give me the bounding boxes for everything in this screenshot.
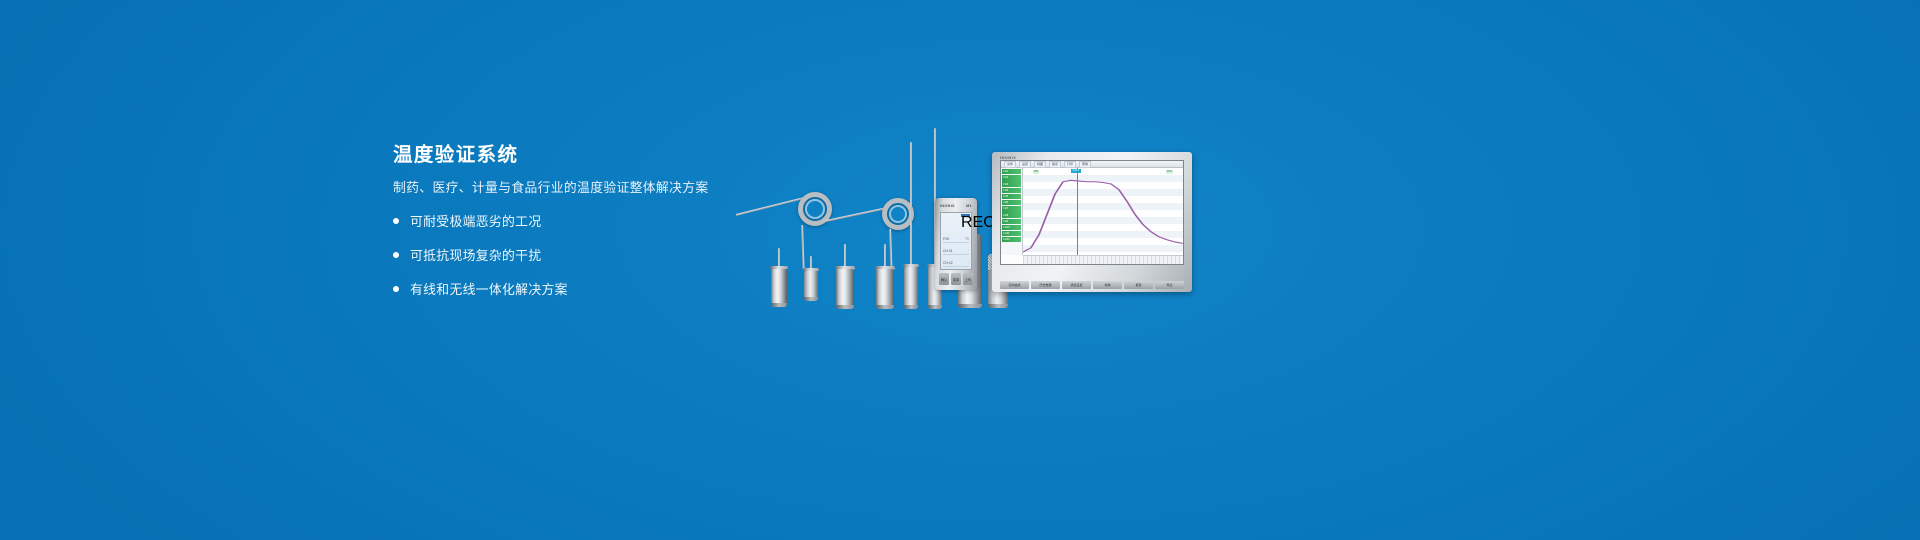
- chart-x-axis: [1023, 255, 1183, 264]
- toolbar-item-file[interactable]: 文件: [1004, 161, 1016, 168]
- logger-body: [804, 271, 818, 301]
- channel-row[interactable]: CH2: [1002, 175, 1021, 180]
- toolbar-item-settings[interactable]: 设置: [1019, 161, 1031, 168]
- reader-key-menu[interactable]: 菜单: [951, 273, 961, 285]
- coil-probe-wire: [826, 207, 889, 222]
- toolbar-item-help[interactable]: 帮助: [1079, 161, 1091, 168]
- chart-annotation-min: MIN: [1033, 170, 1040, 174]
- tab-channels[interactable]: 通道设置: [1062, 281, 1091, 289]
- toolbar-item-view[interactable]: 视图: [1034, 161, 1046, 168]
- reader-brand-row: INONIX M1: [935, 204, 977, 208]
- reader-row-value: °C: [965, 237, 969, 241]
- channel-row[interactable]: CH8: [1002, 212, 1021, 217]
- probe-stem: [844, 244, 846, 268]
- logger-body: [904, 267, 918, 309]
- temperature-trend-chart: 121.3 MIN MAX: [1023, 168, 1183, 255]
- reader-list-item: CH.01 ·: [943, 247, 969, 255]
- monitor-screen: 文件 设置 视图 报表 打印 帮助 CH1 CH2 CH3 CH4 CH5 CH…: [1000, 160, 1184, 265]
- reader-list-item: P28 °C: [943, 235, 969, 243]
- reader-status-badge: REC: [961, 214, 970, 217]
- toolbar-item-print[interactable]: 打印: [1064, 161, 1076, 168]
- product-image-group: TEMP LOGGER INONIX M1 REC P28 °C CH.01 ·: [730, 120, 1210, 320]
- probe-stem: [778, 248, 780, 268]
- tab-alarm[interactable]: 报警: [1124, 281, 1153, 289]
- panel-monitor-device[interactable]: INONIX 文件 设置 视图 报表 打印 帮助 CH1 CH2 CH3 CH4…: [992, 152, 1192, 292]
- toolbar-item-report[interactable]: 报表: [1049, 161, 1061, 168]
- monitor-brand-label: INONIX: [1000, 155, 1016, 160]
- reader-row-label: CH.02: [943, 261, 953, 265]
- tab-realtime[interactable]: 实时曲线: [1000, 281, 1029, 289]
- coil-ring-highlight: [805, 199, 825, 219]
- hero-banner: 温度验证系统 制药、医疗、计量与食品行业的温度验证整体解决方案 可耐受极端恶劣的…: [0, 0, 1920, 540]
- reader-row-label: P28: [943, 237, 949, 241]
- channel-row[interactable]: CH3: [1002, 181, 1021, 186]
- channel-row[interactable]: CH9: [1002, 219, 1021, 224]
- coil-downlead: [889, 229, 892, 269]
- reader-row-label: CH.01: [943, 249, 953, 253]
- channel-row[interactable]: CH11: [1002, 231, 1021, 236]
- trend-curve: [1023, 168, 1183, 255]
- reader-row-value: ·: [968, 261, 969, 265]
- monitor-channel-list[interactable]: CH1 CH2 CH3 CH4 CH5 CH6 CH7 CH8 CH9 CH10…: [1001, 168, 1023, 255]
- channel-row[interactable]: CH5: [1002, 194, 1021, 199]
- bullet-dot-icon: [393, 252, 399, 258]
- tab-calibrate[interactable]: 校准: [1093, 281, 1122, 289]
- channel-row[interactable]: CH7: [1002, 206, 1021, 211]
- chart-annotation-max: MAX: [1166, 170, 1174, 174]
- needle-probe-shaft: [910, 142, 912, 266]
- list-item-label: 可耐受极端恶劣的工况: [410, 211, 541, 230]
- logger-body: [836, 269, 854, 309]
- chart-cursor-line[interactable]: [1077, 168, 1078, 255]
- channel-row[interactable]: CH10: [1002, 225, 1021, 230]
- channel-row[interactable]: CH4: [1002, 188, 1021, 193]
- reader-key-upload[interactable]: 上传: [963, 273, 973, 285]
- chart-cursor-value: 121.3: [1071, 169, 1081, 173]
- reader-screen: REC P28 °C CH.01 · CH.02 ·: [940, 212, 972, 270]
- reader-brand-label: INONIX: [940, 204, 955, 208]
- coil-downlead: [801, 225, 805, 269]
- reader-keypad[interactable]: 确认 菜单 上传: [939, 273, 973, 285]
- channel-row[interactable]: CH1: [1002, 169, 1021, 174]
- tab-export[interactable]: 导出: [1155, 281, 1184, 289]
- list-item-label: 可抵抗现场复杂的干扰: [410, 245, 541, 264]
- channel-row[interactable]: CH12: [1002, 237, 1021, 242]
- bullet-dot-icon: [393, 286, 399, 292]
- monitor-toolbar[interactable]: 文件 设置 视图 报表 打印 帮助: [1001, 161, 1183, 168]
- monitor-tab-bar[interactable]: 实时曲线 历史数据 通道设置 校准 报警 导出: [1000, 281, 1184, 289]
- tab-history[interactable]: 历史数据: [1031, 281, 1060, 289]
- coil-ring-highlight: [889, 205, 907, 223]
- probe-stem: [884, 244, 886, 268]
- handheld-reader-device[interactable]: INONIX M1 REC P28 °C CH.01 · CH.02 ·: [935, 198, 977, 290]
- reader-list-item: CH.02 ·: [943, 259, 969, 267]
- reader-row-value: ·: [968, 249, 969, 253]
- bullet-dot-icon: [393, 218, 399, 224]
- logger-body: [771, 269, 787, 307]
- reader-model-label: M1: [966, 204, 972, 208]
- coil-probe-wire: [736, 197, 806, 216]
- logger-body: [876, 269, 894, 309]
- list-item-label: 有线和无线一体化解决方案: [410, 279, 568, 298]
- channel-row[interactable]: CH6: [1002, 200, 1021, 205]
- reader-key-confirm[interactable]: 确认: [939, 273, 949, 285]
